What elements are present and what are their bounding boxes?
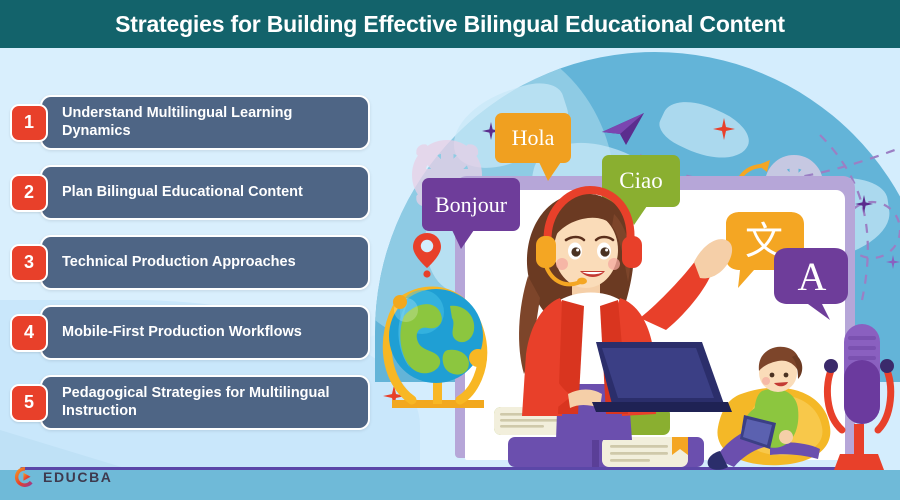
sparkle-star-icon [713, 118, 735, 140]
list-item-label: Plan Bilingual Educational Content [62, 184, 303, 202]
paper-plane-icon [600, 112, 646, 146]
list-item-bar[interactable]: Mobile-First Production Workflows [40, 305, 370, 360]
list-item-label: Technical Production Approaches [62, 254, 296, 272]
microphone-icon [818, 320, 896, 475]
translate-latin-glyph: A [798, 254, 827, 299]
list-item-bar[interactable]: Pedagogical Strategies for Multilingual … [40, 375, 370, 430]
list-item-number: 5 [10, 384, 48, 422]
list-item-number: 3 [10, 244, 48, 282]
list-item-number: 4 [10, 314, 48, 352]
list-item-label: Pedagogical Strategies for Multilingual … [62, 385, 354, 421]
infographic-canvas: 文 A Bonjour Hola Ciao Strategies for Bui… [0, 0, 900, 500]
woman-with-headset-illustration [488, 178, 738, 440]
list-item-label: Mobile-First Production Workflows [62, 324, 302, 342]
speech-bubble-text: Hola [512, 125, 555, 151]
list-item[interactable]: 3 Technical Production Approaches [0, 235, 370, 290]
page-title: Strategies for Building Effective Biling… [115, 11, 785, 38]
sparkle-star-icon [886, 255, 900, 269]
sparkle-star-icon [855, 195, 873, 213]
list-item-label: Understand Multilingual Learning Dynamic… [62, 105, 354, 141]
speech-bubble-hola: Hola [495, 113, 571, 163]
list-item-number: 1 [10, 104, 48, 142]
list-item-number: 2 [10, 174, 48, 212]
location-pin-icon [412, 232, 442, 278]
list-item-bar[interactable]: Technical Production Approaches [40, 235, 370, 290]
educba-logo-icon [14, 466, 36, 488]
list-item[interactable]: 4 Mobile-First Production Workflows [0, 305, 370, 360]
list-item-bar[interactable]: Plan Bilingual Educational Content [40, 165, 370, 220]
list-item[interactable]: 2 Plan Bilingual Educational Content [0, 165, 370, 220]
list-item-bar[interactable]: Understand Multilingual Learning Dynamic… [40, 95, 370, 150]
list-item[interactable]: 1 Understand Multilingual Learning Dynam… [0, 95, 370, 150]
floor-band [0, 470, 900, 500]
educba-logo[interactable]: EDUCBA [14, 466, 113, 488]
educba-logo-text: EDUCBA [43, 469, 113, 485]
strategy-list: 1 Understand Multilingual Learning Dynam… [0, 95, 370, 445]
list-item[interactable]: 5 Pedagogical Strategies for Multilingua… [0, 375, 370, 430]
header-bar: Strategies for Building Effective Biling… [0, 0, 900, 48]
